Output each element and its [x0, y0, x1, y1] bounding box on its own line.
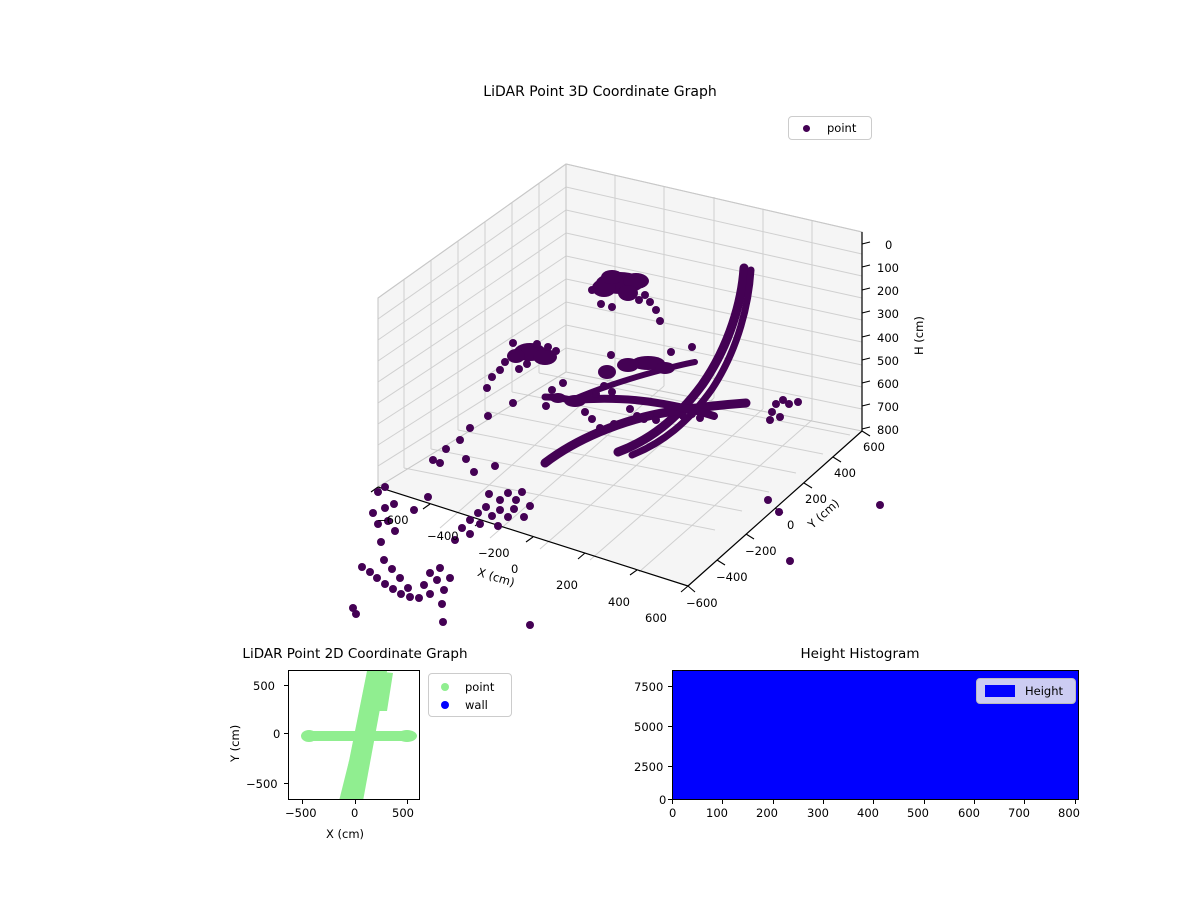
h-tick-400: 400 [877, 331, 899, 345]
h-tick-100: 100 [877, 261, 899, 275]
y-tick--400: −400 [716, 570, 748, 584]
hist-xtickmark-400 [873, 800, 874, 804]
x-tick-600: 600 [645, 611, 667, 625]
plot2d-xtick-500: 500 [392, 806, 414, 820]
plot2d-xtick-0: 0 [351, 806, 358, 820]
plot2d-legend[interactable]: point wall [428, 673, 512, 717]
hist-xtick-400: 400 [857, 806, 879, 820]
hist-xtick-700: 700 [1008, 806, 1030, 820]
hist-ytick-2500: 2500 [634, 760, 663, 774]
hist-xtickmark-500 [924, 800, 925, 804]
plot2d-axes [288, 670, 420, 800]
hist-ytick-5000: 5000 [634, 720, 663, 734]
y-tick--600: −600 [686, 596, 718, 610]
plot2d-xlabel: X (cm) [326, 827, 364, 841]
histogram-legend[interactable]: Height [976, 678, 1076, 704]
plot3d-canvas [0, 0, 1200, 640]
hist-xtick-100: 100 [706, 806, 728, 820]
legend-marker-point-icon [441, 683, 449, 691]
hist-xtick-800: 800 [1058, 806, 1080, 820]
legend-label-wall: wall [465, 698, 488, 712]
h-tick-800: 800 [877, 423, 899, 437]
plot3d-zlabel: H (cm) [912, 316, 926, 355]
plot2d-xtickmark-0 [355, 800, 356, 804]
plot2d-xtickmark--500 [302, 800, 303, 804]
x-tick--400: −400 [427, 529, 459, 543]
legend-label-point: point [465, 680, 494, 694]
x-tick--200: −200 [478, 546, 510, 560]
hist-ytick-0: 0 [659, 793, 666, 807]
hist-xtickmark-100 [722, 800, 723, 804]
y-tick-400: 400 [834, 466, 856, 480]
h-tick-0: 0 [885, 238, 892, 252]
hist-xtickmark-200 [773, 800, 774, 804]
legend-entry-point[interactable]: point [429, 678, 511, 696]
tickmarks-h [862, 242, 870, 429]
h-tick-700: 700 [877, 400, 899, 414]
hist-xtick-500: 500 [907, 806, 929, 820]
y-tick-600: 600 [863, 440, 885, 454]
hist-xtick-0: 0 [669, 806, 676, 820]
hist-xtick-200: 200 [756, 806, 778, 820]
plot2d-ytickmark-0 [284, 733, 288, 734]
figure-canvas: LiDAR Point 3D Coordinate Graph point [0, 0, 1200, 900]
hist-xtickmark-300 [823, 800, 824, 804]
legend-marker-wall-icon [441, 701, 449, 709]
plot2d-points [301, 671, 417, 800]
plot2d-xtick--500: −500 [285, 806, 317, 820]
plot2d-ylabel: Y (cm) [228, 725, 242, 762]
lidar-3d-plot: LiDAR Point 3D Coordinate Graph point [0, 0, 1200, 640]
plot2d-ytick--500: −500 [246, 777, 278, 791]
h-tick-600: 600 [877, 377, 899, 391]
plot2d-title: LiDAR Point 2D Coordinate Graph [150, 646, 560, 662]
y-tick-0: 0 [787, 518, 794, 532]
legend-entry-wall[interactable]: wall [429, 696, 511, 714]
hist-ytickmark-5000 [668, 726, 672, 727]
hist-xtickmark-600 [974, 800, 975, 804]
h-tick-500: 500 [877, 354, 899, 368]
hist-xtickmark-700 [1024, 800, 1025, 804]
plot2d-xtickmark-500 [407, 800, 408, 804]
plot2d-ytickmark-500 [284, 685, 288, 686]
h-tick-300: 300 [877, 307, 899, 321]
hist-ytickmark-2500 [668, 766, 672, 767]
plot2d-ytick-500: 500 [253, 679, 275, 693]
x-tick-200: 200 [556, 578, 578, 592]
plot2d-canvas [289, 671, 420, 800]
plot2d-ytickmark--500 [284, 783, 288, 784]
plot2d-ytick-0: 0 [273, 727, 280, 741]
legend-swatch-height-icon [985, 685, 1015, 697]
legend-label-height: Height [1025, 684, 1063, 698]
x-tick-400: 400 [608, 595, 630, 609]
y-tick--200: −200 [745, 544, 777, 558]
x-tick--600: −600 [377, 513, 409, 527]
hist-ytickmark-7500 [668, 686, 672, 687]
hist-xtick-600: 600 [958, 806, 980, 820]
hist-xtickmark-0 [672, 800, 673, 804]
histogram-title: Height Histogram [620, 646, 1100, 662]
hist-xtickmark-800 [1075, 800, 1076, 804]
hist-ytick-7500: 7500 [634, 680, 663, 694]
hist-xtick-300: 300 [807, 806, 829, 820]
h-tick-200: 200 [877, 284, 899, 298]
